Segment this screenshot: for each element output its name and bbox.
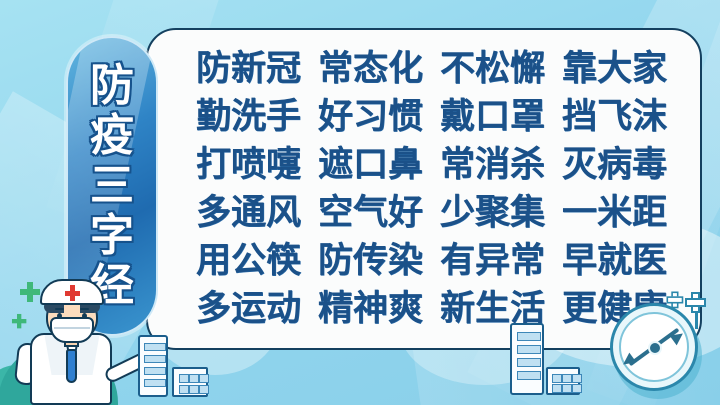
slogan-list: 防新冠 常态化 不松懈 靠大家 勤洗手 好习惯 戴口罩 挡飞沫 打喷嚏 遮口鼻 … (148, 30, 700, 348)
slogan-phrase: 精神爽 (318, 287, 423, 331)
face-mask-icon (50, 317, 94, 343)
vertical-title-char: 防 (90, 61, 134, 111)
slogan-phrase: 遮口鼻 (318, 143, 423, 187)
medical-cross-icon (667, 292, 679, 304)
doctor-eyebrow (55, 308, 64, 311)
slogan-phrase: 灭病毒 (562, 143, 667, 187)
poster-canvas: 防新冠 常态化 不松懈 靠大家 勤洗手 好习惯 戴口罩 挡飞沫 打喷嚏 遮口鼻 … (0, 0, 720, 405)
slogan-phrase: 勤洗手 (196, 95, 301, 139)
slogan-row: 多通风 空气好 少聚集 一米距 (196, 189, 700, 237)
slogan-phrase: 用公筷 (196, 239, 301, 283)
slogan-phrase: 多运动 (196, 287, 301, 331)
compass-icon (610, 303, 706, 399)
slogan-phrase: 防新冠 (196, 47, 301, 91)
slogan-phrase: 有异常 (440, 239, 545, 283)
slogan-phrase: 防传染 (318, 239, 423, 283)
slogan-row: 防新冠 常态化 不松懈 靠大家 (196, 45, 700, 93)
slogan-phrase: 空气好 (318, 191, 423, 235)
doctor-illustration (12, 267, 140, 405)
slogan-phrase: 不松懈 (440, 47, 545, 91)
face-mask-fold (54, 327, 90, 329)
vertical-title-char: 字 (90, 211, 134, 261)
building-block (172, 367, 208, 397)
compass-hub (648, 341, 662, 355)
doctor-tie (66, 349, 77, 383)
building-block (546, 367, 580, 395)
vertical-title-char: 三 (90, 161, 134, 211)
doctor-eyebrow (80, 308, 89, 311)
slogan-phrase: 一米距 (562, 191, 667, 235)
vertical-title-char: 疫 (90, 111, 134, 161)
slogan-phrase: 常态化 (318, 47, 423, 91)
slogan-phrase: 靠大家 (562, 47, 667, 91)
slogan-phrase: 早就医 (562, 239, 667, 283)
building-tower (138, 335, 168, 397)
slogan-phrase: 常消杀 (440, 143, 545, 187)
building-tower (510, 323, 544, 395)
slogan-row: 打喷嚏 遮口鼻 常消杀 灭病毒 (196, 141, 700, 189)
slogan-phrase: 少聚集 (440, 191, 545, 235)
slogan-phrase: 挡飞沫 (562, 95, 667, 139)
red-cross-icon (65, 291, 80, 296)
slogan-phrase: 多通风 (196, 191, 301, 235)
content-card: 防新冠 常态化 不松懈 靠大家 勤洗手 好习惯 戴口罩 挡飞沫 打喷嚏 遮口鼻 … (146, 28, 702, 350)
slogan-phrase: 戴口罩 (440, 95, 545, 139)
slogan-phrase: 打喷嚏 (196, 143, 301, 187)
slogan-row: 勤洗手 好习惯 戴口罩 挡飞沫 (196, 93, 700, 141)
slogan-row: 用公筷 防传染 有异常 早就医 (196, 237, 700, 285)
slogan-phrase: 好习惯 (318, 95, 423, 139)
